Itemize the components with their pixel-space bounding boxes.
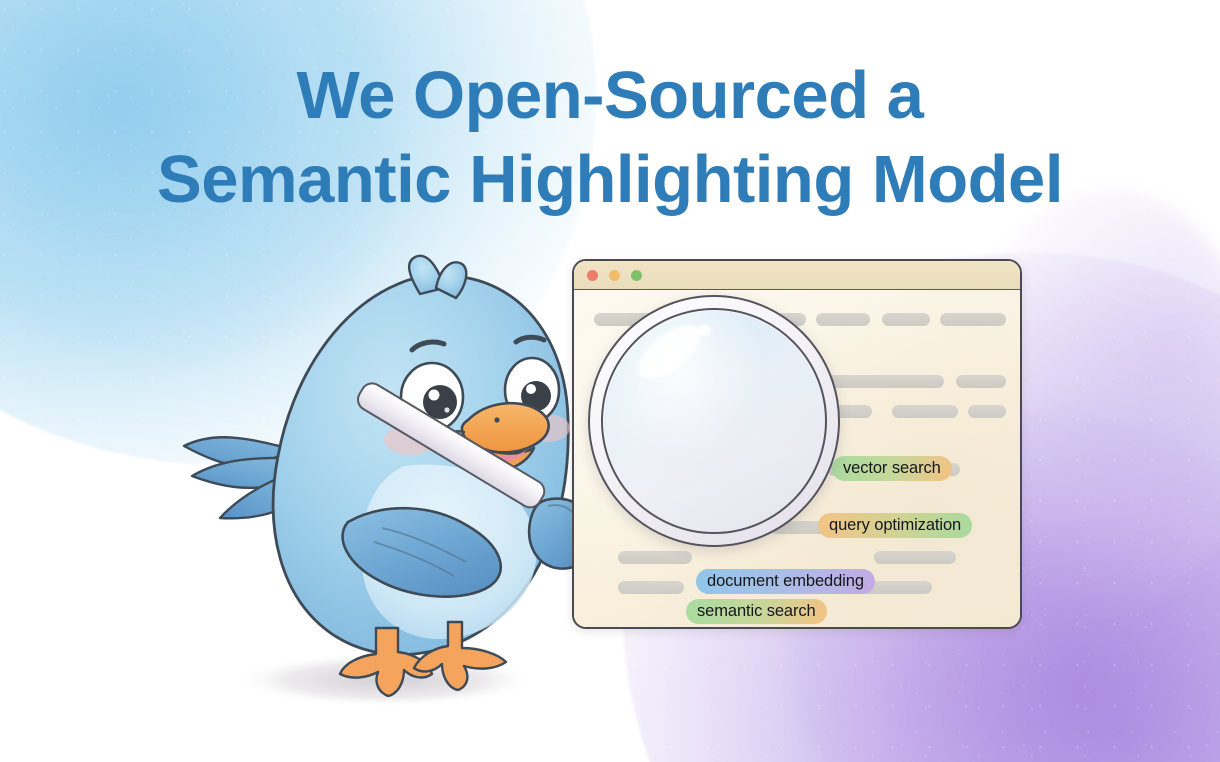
placeholder-text-bar [666,405,792,418]
maximize-icon[interactable] [631,270,642,281]
minimize-icon[interactable] [609,270,620,281]
placeholder-text-bar [594,313,686,326]
placeholder-text-bar [618,581,684,594]
highlight-pill[interactable]: semantic search [686,599,827,624]
highlight-pill[interactable]: RAG [624,401,681,426]
highlight-pill[interactable]: document embedding [696,569,875,594]
window-titlebar [574,261,1020,290]
placeholder-text-bar [814,375,944,388]
highlight-pill[interactable]: vector search [832,456,952,481]
document-window[interactable]: semantic highlightingRAGcontext pruningk… [572,259,1022,629]
highlight-pill[interactable]: context pruning [622,435,755,460]
highlight-pill[interactable]: query optimization [818,513,972,538]
placeholder-text-bar [762,435,822,448]
document-body: semantic highlightingRAGcontext pruningk… [574,289,1020,627]
placeholder-text-bar [802,405,872,418]
placeholder-text-bar [618,551,692,564]
placeholder-text-bar [892,405,958,418]
blue-bird-mascot [168,250,618,720]
highlight-pill[interactable]: knowledge retrieval [624,469,786,494]
placeholder-text-bar [640,495,710,508]
window-traffic-lights [587,270,642,281]
placeholder-text-bar [874,551,956,564]
placeholder-text-bar [882,313,930,326]
placeholder-text-bar [940,313,1006,326]
close-icon[interactable] [587,270,598,281]
page-title: We Open-Sourced a Semantic Highlighting … [0,54,1220,223]
highlight-pill[interactable]: semantic highlighting [616,369,790,394]
placeholder-text-bar [956,375,1006,388]
placeholder-text-bar [968,405,1006,418]
placeholder-text-bar [702,313,806,326]
placeholder-text-bar [722,495,784,508]
poster-canvas: We Open-Sourced a Semantic Highlighting … [0,0,1220,762]
placeholder-text-bar [816,313,870,326]
